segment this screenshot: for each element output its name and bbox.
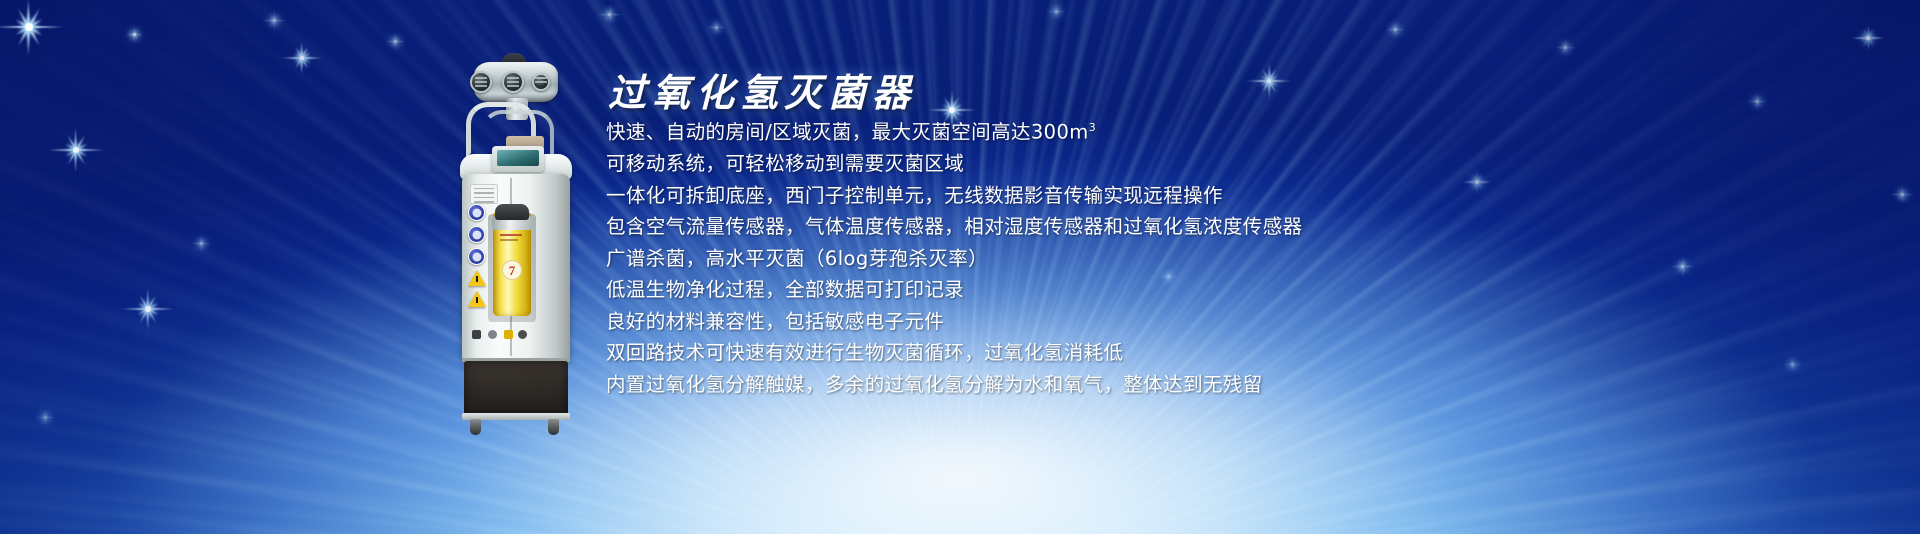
machine-safety-stickers — [468, 204, 488, 312]
chemical-hazard-warning-icon — [468, 270, 486, 286]
feature-line: 广谱杀菌，高水平灭菌（6log芽孢杀灭率） — [606, 243, 1896, 275]
nozzle-port-right — [532, 73, 550, 91]
feature-superscript: 3 — [1089, 121, 1096, 134]
feature-text: 低温生物净化过程，全部数据可打印记录 — [606, 278, 964, 301]
machine-spec-label — [470, 184, 498, 204]
machine-display-screen — [497, 150, 539, 166]
feature-text: 可移动系统，可轻松移动到需要灭菌区域 — [606, 152, 964, 175]
machine-base-module — [464, 361, 568, 415]
feature-line: 包含空气流量传感器，气体温度传感器，相对湿度传感器和过氧化氢浓度传感器 — [606, 211, 1896, 243]
feature-line: 快速、自动的房间/区域灭菌，最大灭菌空间高达300m3 — [606, 112, 1896, 148]
feature-text: 一体化可拆卸底座，西门子控制单元，无线数据影音传输实现远程操作 — [606, 184, 1223, 207]
feature-line: 良好的材料兼容性，包括敏感电子元件 — [606, 306, 1896, 338]
peroxide-bottle-label-line-1 — [500, 234, 522, 236]
feature-text: 广谱杀菌，高水平灭菌（6log芽孢杀灭率） — [606, 247, 988, 270]
feature-line: 可移动系统，可轻松移动到需要灭菌区域 — [606, 148, 1896, 180]
feature-line: 内置过氧化氢分解触媒，多余的过氧化氢分解为水和氧气，整体达到无残留 — [606, 369, 1896, 401]
machine-caster-right — [548, 419, 559, 435]
protective-clothing-icon — [468, 248, 485, 265]
feature-text: 内置过氧化氢分解触媒，多余的过氧化氢分解为水和氧气，整体达到无残留 — [606, 373, 1263, 396]
machine-control-panel — [492, 146, 544, 172]
feature-text: 良好的材料兼容性，包括敏感电子元件 — [606, 310, 944, 333]
no-entry-icon — [468, 226, 485, 243]
general-warning-icon — [468, 291, 486, 307]
machine-caster-left — [470, 419, 481, 435]
respirator-mask-icon — [468, 204, 485, 221]
feature-line: 双回路技术可快速有效进行生物灭菌循环，过氧化氢消耗低 — [606, 337, 1896, 369]
peroxide-bottle-number: 7 — [502, 260, 522, 280]
sterilizer-machine-image: 7 — [448, 62, 584, 378]
page-title: 过氧化氢灭菌器 — [608, 62, 916, 117]
feature-line: 一体化可拆卸底座，西门子控制单元，无线数据影音传输实现远程操作 — [606, 180, 1896, 212]
feature-text: 快速、自动的房间/区域灭菌，最大灭菌空间高达300m — [606, 121, 1089, 144]
nozzle-port-left — [470, 71, 492, 93]
feature-line: 低温生物净化过程，全部数据可打印记录 — [606, 274, 1896, 306]
peroxide-bottle-label-line-2 — [500, 239, 518, 241]
machine-connector-row — [472, 330, 542, 342]
feature-text: 双回路技术可快速有效进行生物灭菌循环，过氧化氢消耗低 — [606, 341, 1123, 364]
product-banner: 7 过氧化氢灭菌器 快速、自动的房间/区域灭菌，最大灭菌空间高达300m3可移动… — [0, 0, 1920, 534]
feature-text: 包含空气流量传感器，气体温度传感器，相对湿度传感器和过氧化氢浓度传感器 — [606, 215, 1303, 238]
nozzle-port-center — [502, 71, 524, 93]
feature-list: 快速、自动的房间/区域灭菌，最大灭菌空间高达300m3可移动系统，可轻松移动到需… — [606, 112, 1896, 400]
peroxide-bottle-cap — [495, 204, 529, 220]
